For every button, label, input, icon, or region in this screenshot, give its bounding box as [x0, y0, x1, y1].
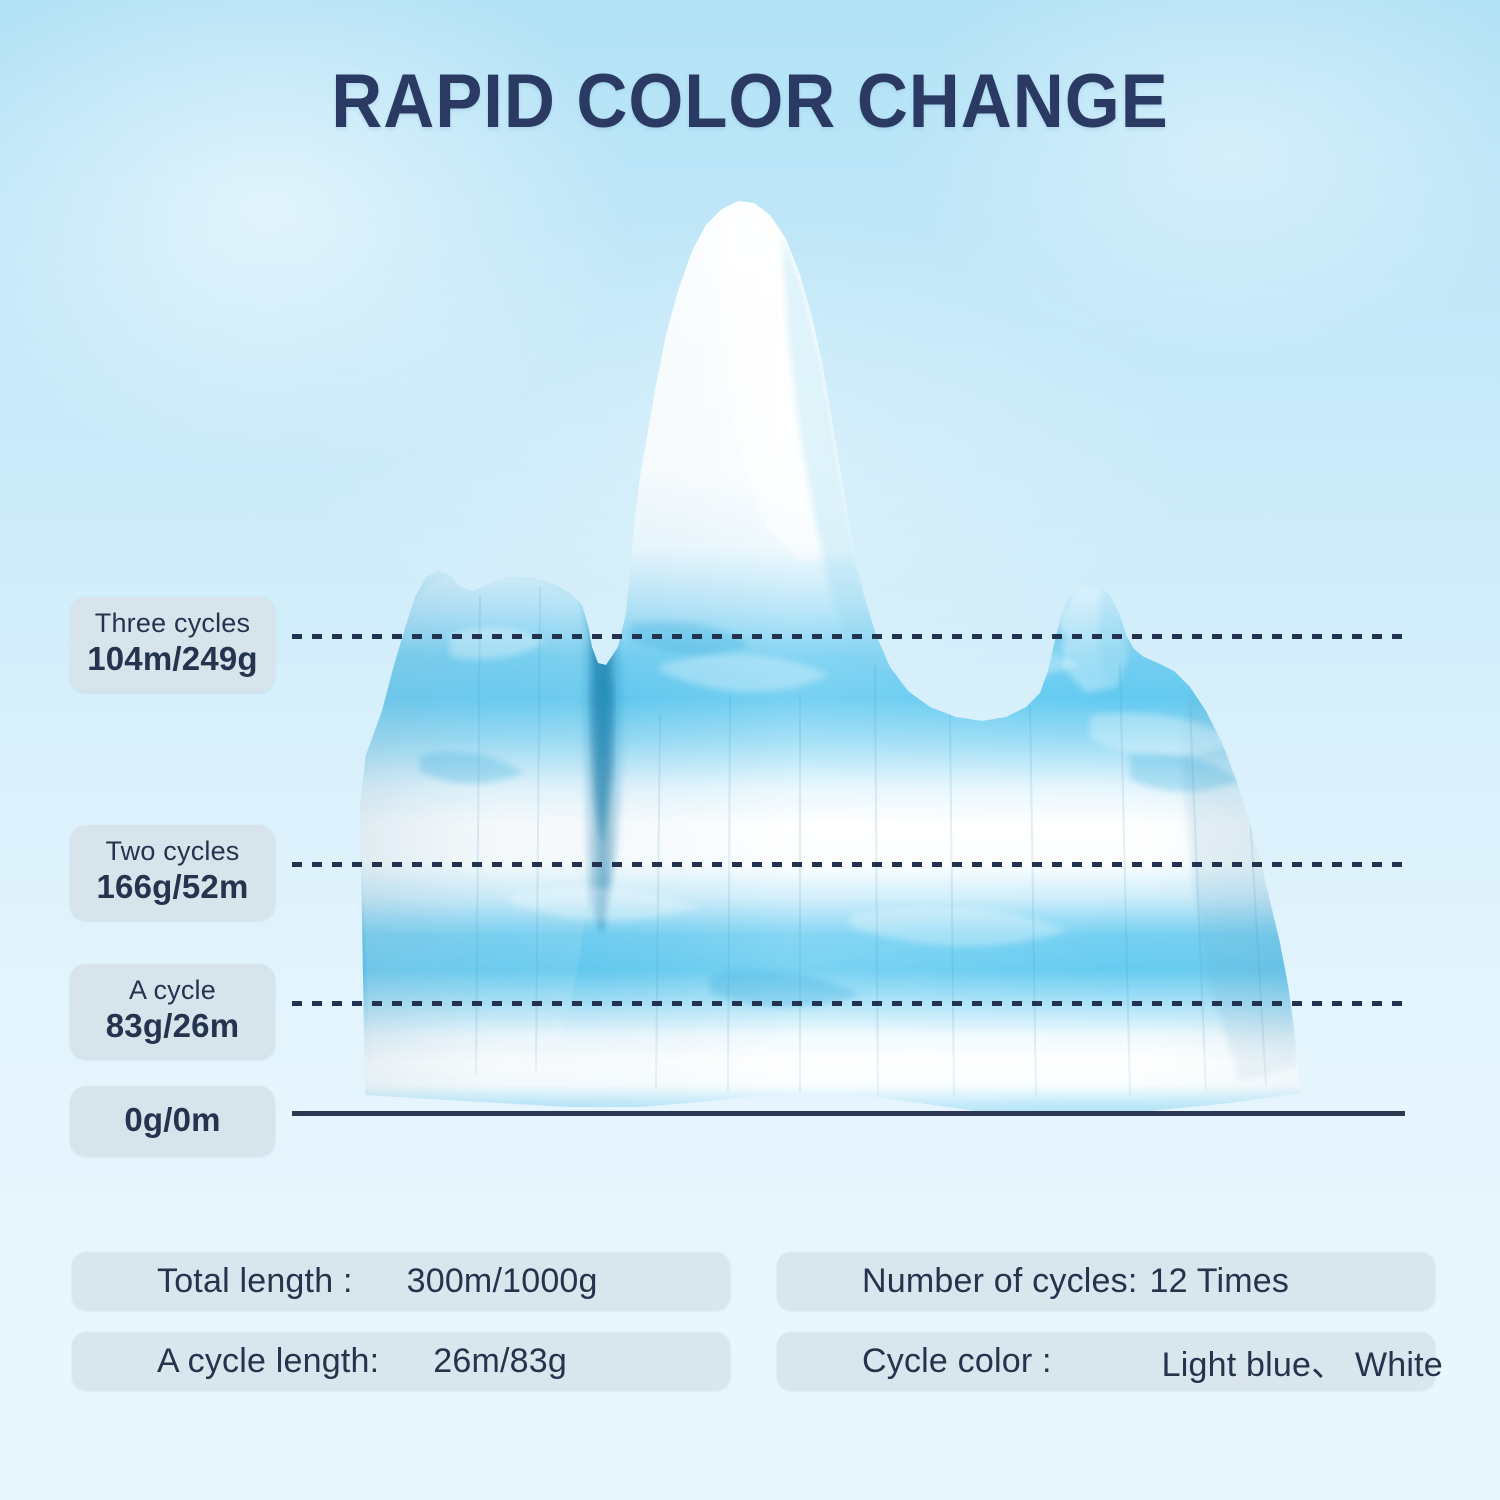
- product-model-image: [330, 195, 1430, 1120]
- scale-label-three-cycles: Three cycles 104m/249g: [70, 597, 275, 692]
- spec-value: 300m/1000g: [353, 1262, 598, 1301]
- scale-value: 166g/52m: [78, 867, 267, 907]
- scale-value: 0g/0m: [78, 1100, 267, 1140]
- spec-a-cycle-length: A cycle length: 26m/83g: [72, 1332, 730, 1390]
- spec-cycle-color: Cycle color : Light blue、 White: [777, 1332, 1435, 1390]
- scale-value: 83g/26m: [78, 1006, 267, 1046]
- spec-value: 12 Times: [1137, 1262, 1289, 1301]
- rule-three-cycles: [292, 633, 1405, 639]
- scale-label-two-cycles: Two cycles 166g/52m: [70, 825, 275, 920]
- spec-key: A cycle length:: [72, 1342, 379, 1381]
- iceberg-model-svg: [330, 195, 1430, 1120]
- spec-key: Cycle color :: [777, 1342, 1052, 1381]
- spec-value: Light blue、 White: [1052, 1337, 1443, 1386]
- rule-a-cycle: [292, 1000, 1405, 1006]
- spec-total-length: Total length : 300m/1000g: [72, 1252, 730, 1310]
- spec-grid: Total length : 300m/1000g Number of cycl…: [72, 1252, 1435, 1390]
- page-title: RAPID COLOR CHANGE: [53, 58, 1448, 145]
- spec-key: Total length :: [72, 1262, 353, 1301]
- rule-baseline: [292, 1110, 1405, 1117]
- scale-label-zero: 0g/0m: [70, 1086, 275, 1156]
- infographic-page: RAPID COLOR CHANGE: [0, 0, 1500, 1500]
- spec-number-of-cycles: Number of cycles: 12 Times: [777, 1252, 1435, 1310]
- spec-key: Number of cycles:: [777, 1262, 1137, 1301]
- scale-caption: Two cycles: [78, 836, 267, 867]
- spec-value: 26m/83g: [379, 1342, 567, 1381]
- scale-value: 104m/249g: [78, 639, 267, 679]
- scale-caption: Three cycles: [78, 608, 267, 639]
- scale-label-a-cycle: A cycle 83g/26m: [70, 964, 275, 1059]
- rule-two-cycles: [292, 861, 1405, 867]
- scale-caption: A cycle: [78, 975, 267, 1006]
